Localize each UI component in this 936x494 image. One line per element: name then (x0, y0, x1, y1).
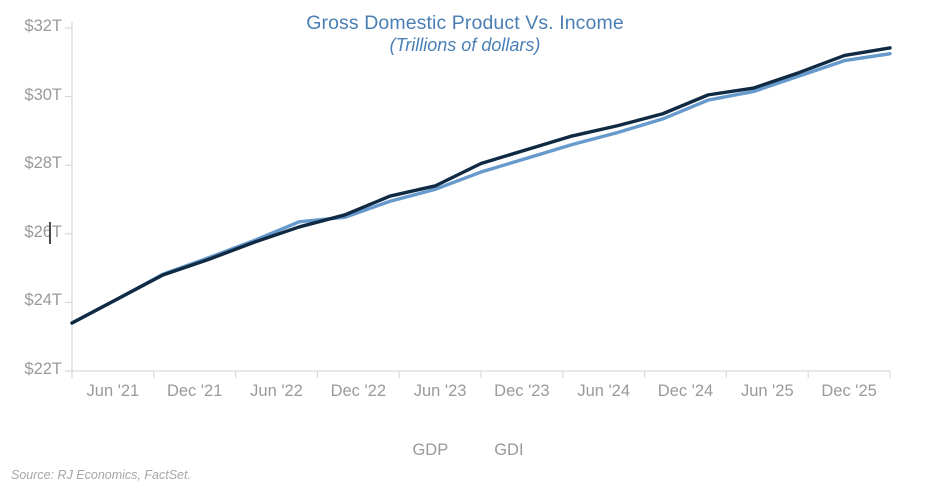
legend-item-gdi[interactable]: GDI (494, 441, 523, 460)
x-axis-tick-label: Dec '24 (658, 382, 713, 401)
text-cursor-artifact (49, 222, 51, 244)
x-axis-tick-label: Jun '22 (250, 382, 303, 401)
x-axis-tick-label: Jun '25 (741, 382, 794, 401)
x-axis-tick-label: Jun '23 (414, 382, 467, 401)
x-axis-tick-label: Jun '21 (87, 382, 140, 401)
source-note: Source: RJ Economics, FactSet. (11, 468, 191, 482)
chart-legend: GDPGDI (0, 441, 936, 460)
x-axis-tick-label: Dec '21 (167, 382, 222, 401)
x-axis-tick-label: Dec '23 (494, 382, 549, 401)
x-axis-tick-label: Dec '25 (821, 382, 876, 401)
chart-container: Gross Domestic Product Vs. Income (Trill… (0, 0, 936, 494)
x-axis-tick-label: Jun '24 (577, 382, 630, 401)
x-axis-labels: Jun '21Dec '21Jun '22Dec '22Jun '23Dec '… (0, 0, 936, 494)
legend-item-gdp[interactable]: GDP (412, 441, 448, 460)
x-axis-tick-label: Dec '22 (331, 382, 386, 401)
